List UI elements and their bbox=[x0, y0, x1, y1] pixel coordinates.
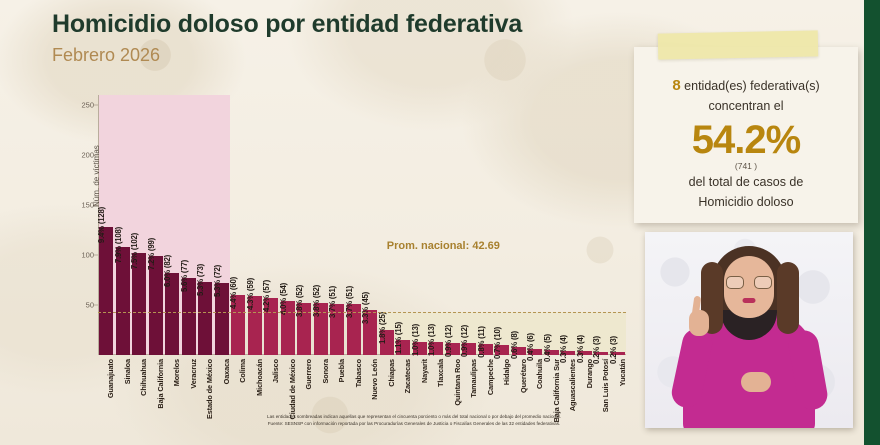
bar-value-label: 6.0% (82) bbox=[163, 255, 172, 287]
bar-value-label: 1.0% (13) bbox=[411, 324, 420, 356]
bar-value-label: 7.9% (108) bbox=[114, 227, 123, 263]
average-line bbox=[98, 312, 626, 313]
bar: 4.0% (54) bbox=[281, 301, 295, 355]
summary-card: 8 entidad(es) federativa(s) concentran e… bbox=[634, 47, 858, 223]
bar: 0.9% (12) bbox=[446, 343, 460, 355]
y-tick-label: 50 bbox=[86, 301, 94, 310]
bar-value-label: 4.3% (59) bbox=[246, 278, 255, 310]
bar-value-label: 1.8% (25) bbox=[378, 312, 387, 344]
bar-cell: 0.8% (11) bbox=[478, 95, 495, 355]
bar: 0.6% (8) bbox=[512, 347, 526, 355]
bar: 4.2% (57) bbox=[264, 298, 278, 355]
bar: 0.4% (5) bbox=[545, 350, 559, 355]
bar-cell: 9.4% (128) bbox=[98, 95, 115, 355]
bar-value-label: 4.2% (57) bbox=[262, 280, 271, 312]
bar-value-label: 0.9% (12) bbox=[444, 325, 453, 357]
summary-line-1: 8 entidad(es) federativa(s) bbox=[634, 75, 858, 97]
bar: 3.8% (52) bbox=[314, 303, 328, 355]
bar: 7.5% (102) bbox=[132, 253, 146, 355]
bar: 3.8% (52) bbox=[297, 303, 311, 355]
x-category: Veracruz bbox=[181, 357, 198, 429]
bar: 0.7% (10) bbox=[495, 345, 509, 355]
bar: 5.3% (73) bbox=[198, 282, 212, 355]
bar-cell: 5.3% (72) bbox=[214, 95, 231, 355]
glasses-icon bbox=[726, 276, 772, 289]
bar-value-label: 5.3% (72) bbox=[213, 265, 222, 297]
bar-value-label: 1.0% (13) bbox=[427, 324, 436, 356]
interpreter-figure bbox=[645, 232, 853, 428]
bar: 9.4% (128) bbox=[99, 227, 113, 355]
summary-line-3: del total de casos de bbox=[634, 174, 858, 192]
bar: 6.0% (82) bbox=[165, 273, 179, 355]
x-category: Baja California bbox=[148, 357, 165, 429]
bar-value-label: 0.7% (10) bbox=[493, 327, 502, 359]
summary-card-text: 8 entidad(es) federativa(s) concentran e… bbox=[634, 75, 858, 211]
bar-cell: 3.8% (52) bbox=[296, 95, 313, 355]
sign-language-interpreter-video bbox=[645, 232, 853, 428]
bar-value-label: 5.6% (77) bbox=[180, 260, 189, 292]
entity-count: 8 bbox=[672, 77, 680, 94]
bar-value-label: 5.3% (73) bbox=[196, 264, 205, 296]
mouth bbox=[743, 298, 756, 303]
bar-cell: 1.8% (25) bbox=[379, 95, 396, 355]
bar-cell: 4.0% (54) bbox=[280, 95, 297, 355]
footnote-source: Fuente: SESNSP con información reportada… bbox=[204, 420, 624, 427]
bar-cell: 3.7% (51) bbox=[346, 95, 363, 355]
bar-value-label: 1.1% (15) bbox=[394, 322, 403, 354]
chart-plot-area: 50100150200250 Núm. de víctimas 9.4% (12… bbox=[98, 95, 626, 355]
bar: 4.4% (60) bbox=[231, 295, 245, 355]
right-green-strip bbox=[864, 0, 880, 445]
summary-percent: 54.2% bbox=[634, 119, 858, 161]
summary-percent-count: (741 ) bbox=[634, 160, 858, 172]
bar-cell: 0.4% (5) bbox=[544, 95, 561, 355]
bar: 0.2% (3) bbox=[611, 352, 625, 355]
bar-cell: 0.2% (3) bbox=[593, 95, 610, 355]
header: Homicidio doloso por entidad federativa … bbox=[52, 10, 522, 66]
bar-value-label: 4.0% (54) bbox=[279, 283, 288, 315]
bar-value-label: 7.2% (99) bbox=[147, 238, 156, 270]
bar-cell: 5.6% (77) bbox=[181, 95, 198, 355]
bar-cell: 3.3% (45) bbox=[362, 95, 379, 355]
bar: 0.9% (12) bbox=[462, 343, 476, 355]
summary-line-4: Homicidio doloso bbox=[634, 194, 858, 212]
bar: 0.8% (11) bbox=[479, 344, 493, 355]
bar: 5.6% (77) bbox=[182, 278, 196, 355]
bar-value-label: 0.8% (11) bbox=[477, 326, 486, 358]
average-label: Prom. nacional: 42.69 bbox=[387, 240, 500, 252]
bar: 3.3% (45) bbox=[363, 310, 377, 355]
bar-cell: 7.5% (102) bbox=[131, 95, 148, 355]
chart-container: 50100150200250 Núm. de víctimas 9.4% (12… bbox=[36, 95, 626, 440]
entity-count-label: entidad(es) federativa(s) bbox=[684, 79, 819, 93]
bar-cell: 0.4% (6) bbox=[527, 95, 544, 355]
bar: 1.8% (25) bbox=[380, 330, 394, 355]
bar-cell: 0.6% (8) bbox=[511, 95, 528, 355]
y-tick-label: 100 bbox=[81, 251, 94, 260]
bar-cell: 3.8% (52) bbox=[313, 95, 330, 355]
tape-decoration bbox=[658, 30, 819, 59]
bar-cell: 7.2% (99) bbox=[148, 95, 165, 355]
bar-cell: 1.1% (15) bbox=[395, 95, 412, 355]
bar: 5.3% (72) bbox=[215, 283, 229, 355]
x-category: Morelos bbox=[164, 357, 181, 429]
bar-cell: 6.0% (82) bbox=[164, 95, 181, 355]
bar: 1.1% (15) bbox=[396, 340, 410, 355]
bar: 0.3% (4) bbox=[561, 351, 575, 355]
bar-value-label: 7.5% (102) bbox=[130, 233, 139, 269]
bar-value-label: 9.4% (128) bbox=[97, 207, 106, 243]
bar-value-label: 4.4% (60) bbox=[229, 277, 238, 309]
bar: 7.9% (108) bbox=[116, 247, 130, 355]
bar-series: 9.4% (128)7.9% (108)7.5% (102)7.2% (99)6… bbox=[98, 95, 626, 355]
bar: 7.2% (99) bbox=[149, 256, 163, 355]
bar-value-label: 0.9% (12) bbox=[460, 325, 469, 357]
bar-cell: 7.9% (108) bbox=[115, 95, 132, 355]
right-hand bbox=[741, 372, 771, 392]
bar-value-label: 0.6% (8) bbox=[510, 331, 519, 359]
bar-cell: 0.2% (3) bbox=[610, 95, 627, 355]
y-tick-label: 250 bbox=[81, 101, 94, 110]
bar-cell: 0.9% (12) bbox=[461, 95, 478, 355]
bar: 4.3% (59) bbox=[248, 296, 262, 355]
bar: 1.0% (13) bbox=[429, 342, 443, 355]
page-title: Homicidio doloso por entidad federativa bbox=[52, 10, 522, 39]
bar-cell: 1.0% (13) bbox=[428, 95, 445, 355]
bar: 0.4% (6) bbox=[528, 349, 542, 355]
summary-line-2: concentran el bbox=[634, 97, 858, 115]
bar-cell: 1.0% (13) bbox=[412, 95, 429, 355]
bar-cell: 0.3% (4) bbox=[577, 95, 594, 355]
bar: 0.3% (4) bbox=[578, 351, 592, 355]
bar-cell: 4.2% (57) bbox=[263, 95, 280, 355]
bar-cell: 4.4% (60) bbox=[230, 95, 247, 355]
footnote-note: Las entidades sombreadas indican aquella… bbox=[204, 413, 624, 420]
x-category: Chihuahua bbox=[131, 357, 148, 429]
bar-cell: 5.3% (73) bbox=[197, 95, 214, 355]
x-category: Guanajuato bbox=[98, 357, 115, 429]
bar-cell: 3.7% (51) bbox=[329, 95, 346, 355]
bar: 1.0% (13) bbox=[413, 342, 427, 355]
footnotes: Las entidades sombreadas indican aquella… bbox=[204, 413, 624, 427]
bar-cell: 0.9% (12) bbox=[445, 95, 462, 355]
bar: 0.2% (3) bbox=[594, 352, 608, 355]
hair-right bbox=[777, 262, 799, 334]
x-category: Sinaloa bbox=[115, 357, 132, 429]
page-subtitle: Febrero 2026 bbox=[52, 45, 522, 66]
bar-cell: 0.7% (10) bbox=[494, 95, 511, 355]
x-category-label: Yucatán bbox=[618, 359, 627, 386]
bar-cell: 0.3% (4) bbox=[560, 95, 577, 355]
bar-cell: 4.3% (59) bbox=[247, 95, 264, 355]
bar-value-label: 3.3% (45) bbox=[361, 292, 370, 324]
